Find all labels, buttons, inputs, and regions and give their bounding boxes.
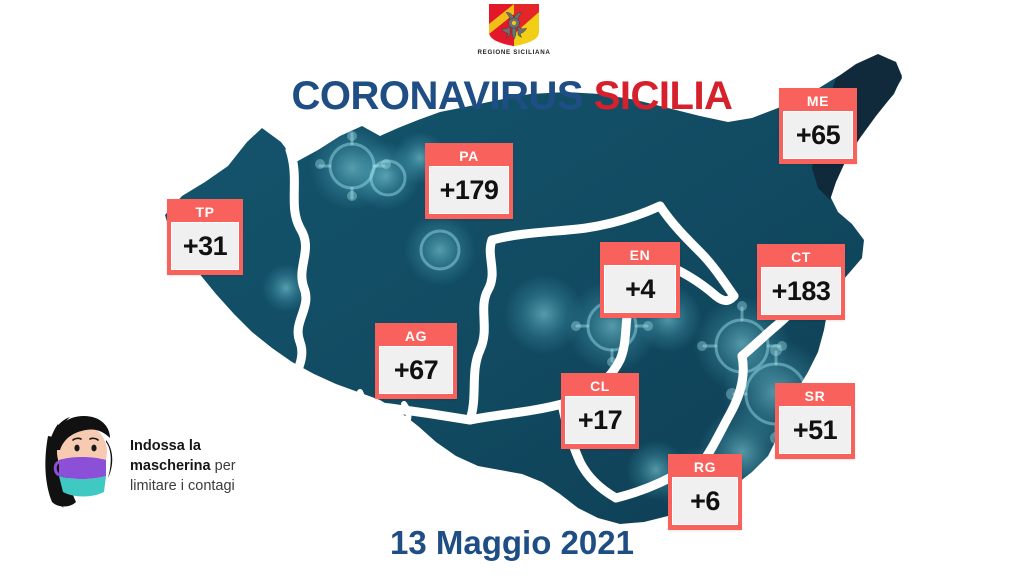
infographic-canvas: REGIONE SICILIANA CORONAVIRUS SICILIA TP… bbox=[0, 0, 1024, 576]
province-badge-ct-value: +183 bbox=[761, 267, 841, 315]
province-badge-sr-label: SR bbox=[779, 387, 851, 406]
province-badge-en-label: EN bbox=[604, 246, 676, 265]
trinacria-icon bbox=[485, 2, 543, 48]
mask-psa: Indossa la mascherina per limitare i con… bbox=[22, 404, 290, 516]
province-badge-ct-label: CT bbox=[761, 248, 841, 267]
province-badge-ag[interactable]: AG +67 bbox=[375, 323, 457, 399]
province-badge-me-value: +65 bbox=[783, 111, 853, 159]
province-badge-pa[interactable]: PA +179 bbox=[425, 143, 513, 219]
province-badge-tp[interactable]: TP +31 bbox=[167, 199, 243, 275]
logo-caption: REGIONE SICILIANA bbox=[468, 49, 560, 56]
province-badge-en-value: +4 bbox=[604, 265, 676, 313]
province-badge-cl-value: +17 bbox=[565, 396, 635, 444]
province-badge-ag-label: AG bbox=[379, 327, 453, 346]
psa-line2-rest: per bbox=[211, 458, 236, 474]
psa-line3: limitare i contagi bbox=[130, 478, 235, 494]
province-badge-cl[interactable]: CL +17 bbox=[561, 373, 639, 449]
page-title: CORONAVIRUS SICILIA bbox=[0, 76, 1024, 116]
province-badge-rg-label: RG bbox=[672, 458, 738, 477]
province-badge-sr-value: +51 bbox=[779, 406, 851, 454]
title-sicilia: SICILIA bbox=[594, 74, 733, 118]
province-badge-me-label: ME bbox=[783, 92, 853, 111]
date-label: 13 Maggio 2021 bbox=[0, 524, 1024, 562]
province-badge-pa-value: +179 bbox=[429, 166, 509, 214]
province-badge-rg-value: +6 bbox=[672, 477, 738, 525]
province-badge-tp-value: +31 bbox=[171, 222, 239, 270]
woman-wearing-mask-icon bbox=[30, 406, 122, 510]
province-badge-cl-label: CL bbox=[565, 377, 635, 396]
province-badge-pa-label: PA bbox=[429, 147, 509, 166]
province-badge-en[interactable]: EN +4 bbox=[600, 242, 680, 318]
psa-line2-bold: mascherina bbox=[130, 458, 211, 474]
province-badge-tp-label: TP bbox=[171, 203, 239, 222]
title-coronavirus: CORONAVIRUS bbox=[292, 74, 584, 118]
province-badge-ct[interactable]: CT +183 bbox=[757, 244, 845, 320]
province-badge-rg[interactable]: RG +6 bbox=[668, 454, 742, 530]
province-badge-sr[interactable]: SR +51 bbox=[775, 383, 855, 459]
psa-text: Indossa la mascherina per limitare i con… bbox=[130, 436, 295, 496]
province-badge-ag-value: +67 bbox=[379, 346, 453, 394]
regione-siciliana-logo: REGIONE SICILIANA bbox=[468, 2, 560, 60]
psa-line1: Indossa la bbox=[130, 438, 201, 454]
province-badge-me[interactable]: ME +65 bbox=[779, 88, 857, 164]
